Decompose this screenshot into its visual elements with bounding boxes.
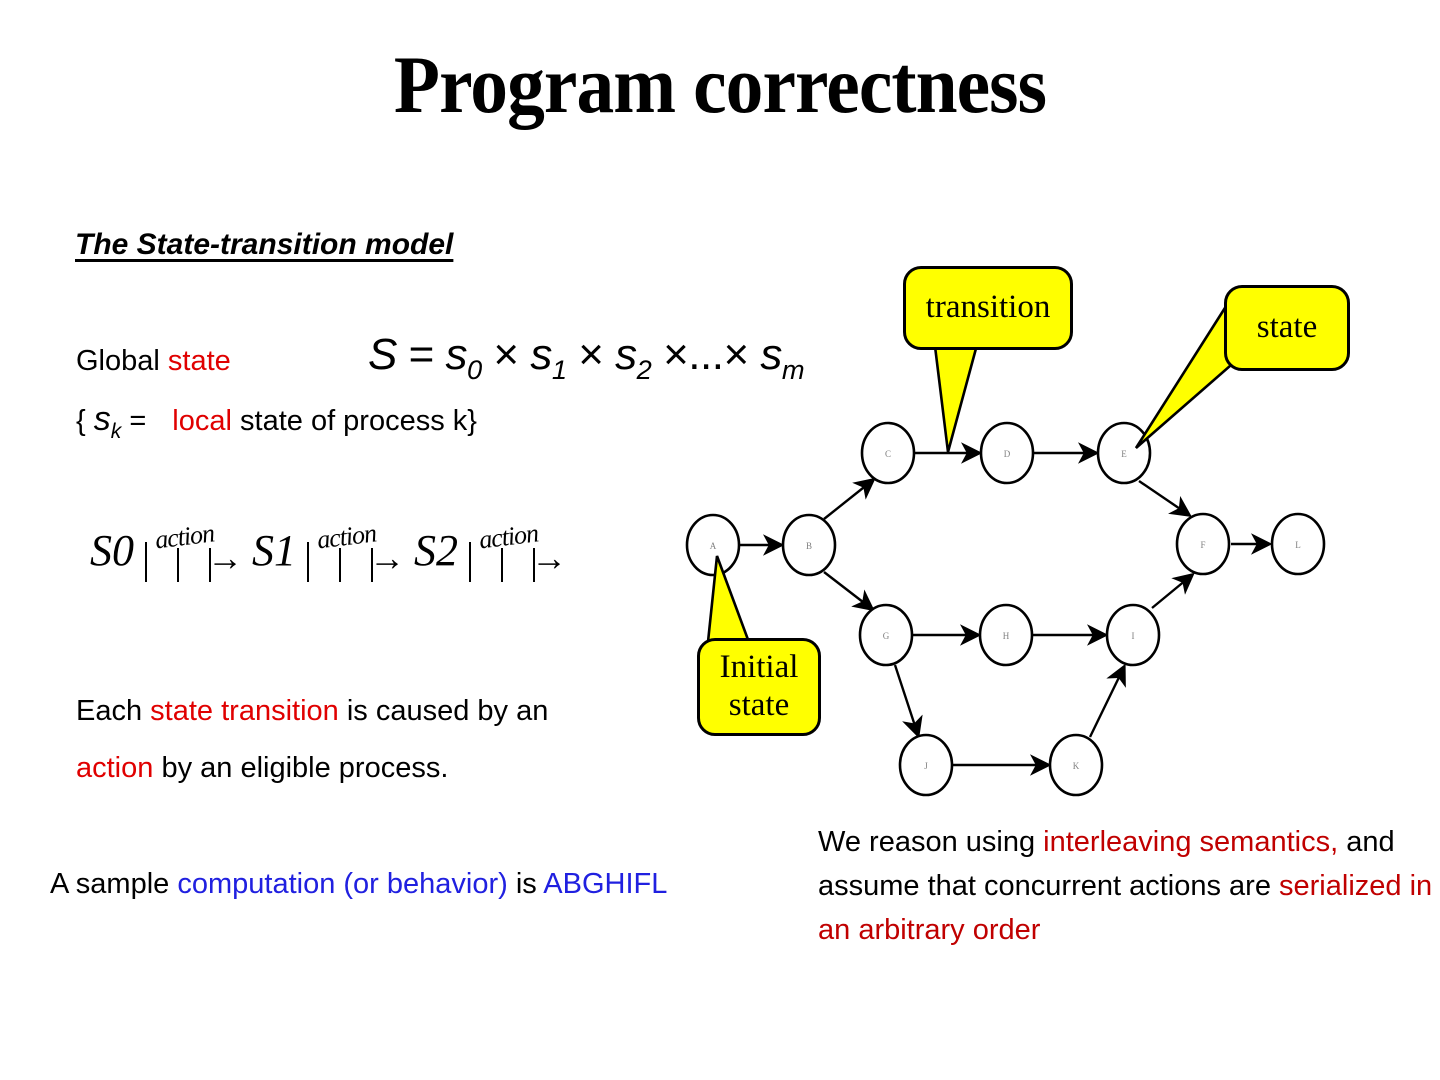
arrow-right-icon: → (369, 540, 405, 576)
graph-node-label-A: A (710, 541, 717, 551)
graph-edge-B-C (824, 480, 873, 519)
graph-node-label-F: F (1200, 540, 1205, 550)
callout-transition: transition (903, 266, 1073, 350)
sequence-arrow-1: action → (307, 526, 403, 584)
graph-node-label-I: I (1132, 631, 1135, 641)
graph-node-label-B: B (806, 541, 812, 551)
sequence-bar (469, 542, 471, 582)
formula-ellipsis: ... (688, 330, 723, 379)
local-state-line: { sk =local state of process k} (76, 400, 477, 444)
interleaving-keyword: interleaving semantics, (1043, 826, 1338, 858)
graph-node-label-E: E (1121, 449, 1127, 459)
graph-node-I[interactable]: I (1107, 605, 1159, 665)
graph-edge-G-J (895, 665, 918, 735)
graph-node-label-D: D (1004, 449, 1011, 459)
callout-state: state (1224, 285, 1350, 371)
graph-node-L[interactable]: L (1272, 514, 1324, 574)
reason-part-1: We reason using (818, 826, 1043, 858)
formula-equals: = (397, 330, 446, 379)
sequence-bar (177, 548, 179, 582)
graph-edge-I-F (1152, 575, 1192, 608)
graph-node-label-K: K (1073, 761, 1080, 771)
graph-node-label-L: L (1295, 540, 1301, 550)
state-transition-sentence-line2: action by an eligible process. (76, 752, 448, 785)
graph-node-H[interactable]: H (980, 605, 1032, 665)
slide-canvas: Program correctness The State-transition… (0, 0, 1440, 1080)
sample-computation-line: A sample computation (or behavior) is AB… (50, 868, 667, 901)
sequence-arrow-0: action → (145, 526, 241, 584)
formula-term-1: s1 (530, 330, 566, 379)
global-state-label: Global (76, 345, 168, 377)
graph-node-label-J: J (924, 761, 928, 771)
callout-initial-state: Initial state (697, 638, 821, 736)
computation-keyword: computation (or behavior) (177, 868, 507, 900)
graph-node-label-G: G (883, 631, 890, 641)
formula-times-0: × (482, 330, 531, 379)
sequence-bar (145, 542, 147, 582)
sample-prefix: A sample (50, 868, 177, 900)
formula-times-3: × (723, 330, 760, 379)
each-suffix: is caused by an (339, 695, 549, 727)
sample-trace: ABGHIFL (543, 868, 667, 900)
callout-initial-state-text: Initial state (720, 649, 799, 725)
sample-mid: is (508, 868, 543, 900)
graph-edge-B-G (824, 572, 872, 609)
graph-node-J[interactable]: J (900, 735, 952, 795)
callout-initial-line1: Initial (720, 649, 799, 685)
graph-node-F[interactable]: F (1177, 514, 1229, 574)
open-brace: { (76, 405, 86, 437)
sequence-bar (339, 548, 341, 582)
arrow-right-icon: → (531, 540, 567, 576)
graph-node-K[interactable]: K (1050, 735, 1102, 795)
graph-node-E[interactable]: E (1098, 423, 1150, 483)
sequence-arrow-2: action → (469, 526, 565, 584)
sequence-state-0: S0 (90, 525, 134, 576)
graph-node-label-C: C (885, 449, 891, 459)
sequence-state-1: S1 (252, 525, 296, 576)
state-transition-keyword: state transition (150, 695, 339, 727)
page-title: Program correctness (58, 44, 1383, 126)
local-state-symbol: sk (94, 400, 122, 438)
graph-node-A[interactable]: A (687, 515, 739, 575)
formula-times-1: × (567, 330, 616, 379)
graph-node-D[interactable]: D (981, 423, 1033, 483)
local-state-rest: state of process k} (232, 405, 477, 437)
formula-term-m: sm (760, 330, 804, 379)
formula-times-2: × (651, 330, 688, 379)
sequence-state-2: S2 (414, 525, 458, 576)
global-state-line: Global state (76, 345, 231, 378)
action-suffix: by an eligible process. (153, 752, 448, 784)
formula-term-2: s2 (615, 330, 651, 379)
state-transition-sentence-line1: Each state transition is caused by an (76, 695, 548, 728)
computation-sequence: S0 action → S1 action → S2 action → (90, 525, 565, 584)
sk-equals: = (129, 405, 146, 437)
local-keyword: local (172, 405, 232, 437)
graph-node-G[interactable]: G (860, 605, 912, 665)
graph-edge-K-I (1090, 667, 1124, 737)
arrow-right-icon: → (207, 540, 243, 576)
action-keyword: action (76, 752, 153, 784)
graph-node-label-H: H (1003, 631, 1010, 641)
global-state-keyword: state (168, 345, 231, 377)
interleaving-semantics-paragraph: We reason using interleaving semantics, … (818, 820, 1438, 952)
graph-node-C[interactable]: C (862, 423, 914, 483)
sequence-bar (501, 548, 503, 582)
formula-lhs: S (368, 330, 397, 379)
section-subheading: The State-transition model (75, 228, 453, 262)
formula-term-0: s0 (446, 330, 482, 379)
each-prefix: Each (76, 695, 150, 727)
callout-initial-line2: state (729, 687, 789, 723)
global-state-formula: S = s0 × s1 × s2 ×...× sm (368, 330, 804, 386)
graph-node-B[interactable]: B (783, 515, 835, 575)
graph-edge-E-F (1139, 481, 1189, 515)
sequence-bar (307, 542, 309, 582)
